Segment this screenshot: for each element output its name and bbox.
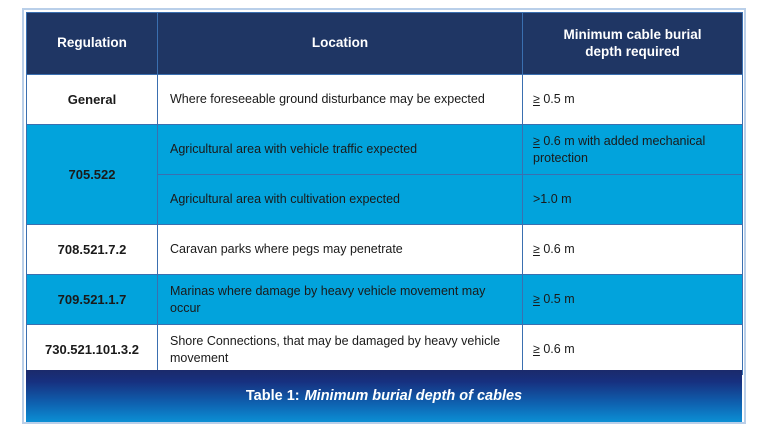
depth-value: 0.5 m — [543, 292, 574, 306]
table-row: General Where foreseeable ground disturb… — [27, 75, 743, 125]
cell-regulation: 730.521.101.3.2 — [27, 325, 158, 375]
cell-location: Where foreseeable ground disturbance may… — [158, 75, 523, 125]
burial-depth-table: Regulation Location Minimum cable burial… — [26, 12, 743, 375]
header-row: Regulation Location Minimum cable burial… — [27, 13, 743, 75]
depth-value: 0.6 m — [543, 242, 574, 256]
caption-text: Minimum burial depth of cables — [305, 388, 523, 404]
cell-depth: >1.0 m — [523, 175, 743, 225]
greater-equal-symbol: ≥ — [533, 242, 540, 256]
greater-equal-symbol: ≥ — [533, 292, 540, 306]
cell-depth: ≥ 0.6 m — [523, 225, 743, 275]
table-row: 709.521.1.7 Marinas where damage by heav… — [27, 275, 743, 325]
greater-equal-symbol: ≥ — [533, 342, 540, 356]
cell-depth: ≥ 0.5 m — [523, 75, 743, 125]
table-caption-bar: Table 1: Minimum burial depth of cables — [26, 370, 742, 422]
caption-label: Table 1: — [246, 388, 300, 404]
table-row: 708.521.7.2 Caravan parks where pegs may… — [27, 225, 743, 275]
column-header-depth-line1: Minimum cable burial — [563, 27, 701, 42]
cell-depth: ≥ 0.6 m — [523, 325, 743, 375]
depth-value: 0.5 m — [543, 92, 574, 106]
cell-location: Agricultural area with vehicle traffic e… — [158, 125, 523, 175]
cell-location: Agricultural area with cultivation expec… — [158, 175, 523, 225]
table-body: General Where foreseeable ground disturb… — [27, 75, 743, 375]
cell-regulation: 709.521.1.7 — [27, 275, 158, 325]
table-row: 730.521.101.3.2 Shore Connections, that … — [27, 325, 743, 375]
cell-location: Marinas where damage by heavy vehicle mo… — [158, 275, 523, 325]
column-header-location: Location — [158, 13, 523, 75]
cell-location: Shore Connections, that may be damaged b… — [158, 325, 523, 375]
table-page: Regulation Location Minimum cable burial… — [0, 0, 768, 432]
cell-location: Caravan parks where pegs may penetrate — [158, 225, 523, 275]
cell-depth: ≥ 0.6 m with added mechanical protection — [523, 125, 743, 175]
cell-regulation: 708.521.7.2 — [27, 225, 158, 275]
depth-value: >1.0 m — [533, 192, 572, 206]
table-header: Regulation Location Minimum cable burial… — [27, 13, 743, 75]
greater-equal-symbol: ≥ — [533, 134, 540, 148]
cell-depth: ≥ 0.5 m — [523, 275, 743, 325]
column-header-regulation: Regulation — [27, 13, 158, 75]
table-row: 705.522 Agricultural area with vehicle t… — [27, 125, 743, 175]
column-header-depth: Minimum cable burial depth required — [523, 13, 743, 75]
depth-value: 0.6 m with added mechanical protection — [533, 134, 705, 165]
cell-regulation: General — [27, 75, 158, 125]
cell-regulation-merged: 705.522 — [27, 125, 158, 225]
greater-equal-symbol: ≥ — [533, 92, 540, 106]
depth-value: 0.6 m — [543, 342, 574, 356]
column-header-depth-line2: depth required — [585, 44, 680, 59]
